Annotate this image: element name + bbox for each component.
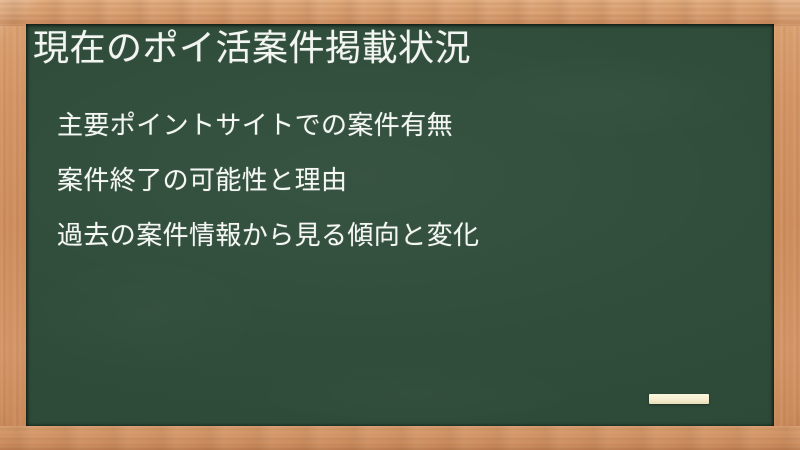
list-item: 主要ポイントサイトでの案件有無	[57, 99, 747, 154]
slide-topic-list: 主要ポイントサイトでの案件有無 案件終了の可能性と理由 過去の案件情報から見る傾…	[57, 99, 747, 264]
chalkboard-surface: 現在のポイ活案件掲載状況 主要ポイントサイトでの案件有無 案件終了の可能性と理由…	[26, 24, 774, 427]
list-item: 過去の案件情報から見る傾向と変化	[57, 209, 747, 264]
chalkboard-frame: 現在のポイ活案件掲載状況 主要ポイントサイトでの案件有無 案件終了の可能性と理由…	[0, 0, 800, 450]
slide-title: 現在のポイ活案件掲載状況	[33, 31, 753, 67]
chalk-icon	[649, 394, 709, 404]
list-item: 案件終了の可能性と理由	[57, 154, 747, 209]
